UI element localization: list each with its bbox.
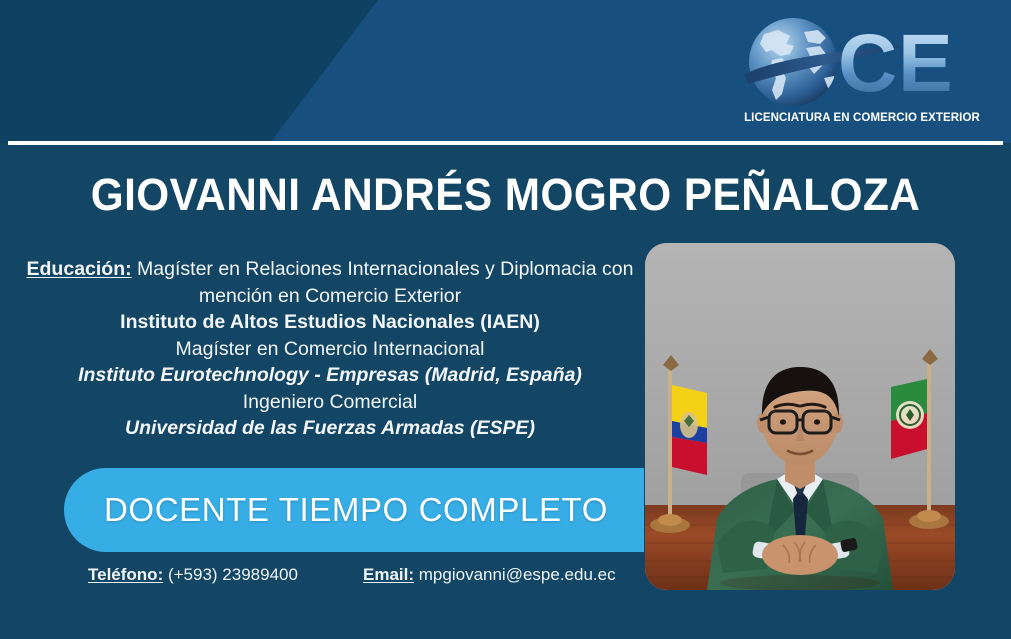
role-badge-label: DOCENTE TIEMPO COMPLETO <box>104 491 608 529</box>
contact-phone-value: (+593) 23989400 <box>168 565 298 584</box>
role-badge: DOCENTE TIEMPO COMPLETO <box>64 468 644 552</box>
page-title: GIOVANNI ANDRÉS MOGRO PEÑALOZA <box>30 169 980 221</box>
globe-icon: C E <box>742 12 982 112</box>
education-line-text: Magíster en Relaciones Internacionales y… <box>137 258 633 307</box>
education-line-institution-3: Universidad de las Fuerzas Armadas (ESPE… <box>20 415 640 442</box>
contact-section: Teléfono: (+593) 23989400 Email: mpgiova… <box>78 565 638 591</box>
profile-photo-image <box>645 243 955 590</box>
contact-phone: Teléfono: (+593) 23989400 <box>88 565 298 585</box>
education-line-institution-1: Instituto de Altos Estudios Nacionales (… <box>20 309 640 336</box>
contact-email-label: Email: <box>363 565 414 584</box>
logo-subtitle: LICENCIATURA EN COMERCIO EXTERIOR <box>742 112 982 124</box>
header-divider-line <box>8 141 1003 145</box>
faculty-profile-card: C E LICENCIATURA EN COMERCIO EXTERIOR GI… <box>0 0 1011 639</box>
education-line-degree-3: Ingeniero Comercial <box>20 389 640 416</box>
program-logo: C E LICENCIATURA EN COMERCIO EXTERIOR <box>742 12 982 134</box>
svg-text:E: E <box>898 18 953 109</box>
contact-email: Email: mpgiovanni@espe.edu.ec <box>363 565 616 585</box>
contact-email-value: mpgiovanni@espe.edu.ec <box>419 565 616 584</box>
svg-text:C: C <box>838 18 897 109</box>
profile-photo <box>645 243 955 590</box>
education-line-institution-2: Instituto Eurotechnology - Empresas (Mad… <box>20 362 640 389</box>
education-line-degree-1: Educación: Magíster en Relaciones Intern… <box>20 256 640 309</box>
education-label: Educación: <box>27 258 132 280</box>
education-section: Educación: Magíster en Relaciones Intern… <box>20 256 640 442</box>
contact-phone-label: Teléfono: <box>88 565 163 584</box>
education-line-degree-2: Magíster en Comercio Internacional <box>20 336 640 363</box>
